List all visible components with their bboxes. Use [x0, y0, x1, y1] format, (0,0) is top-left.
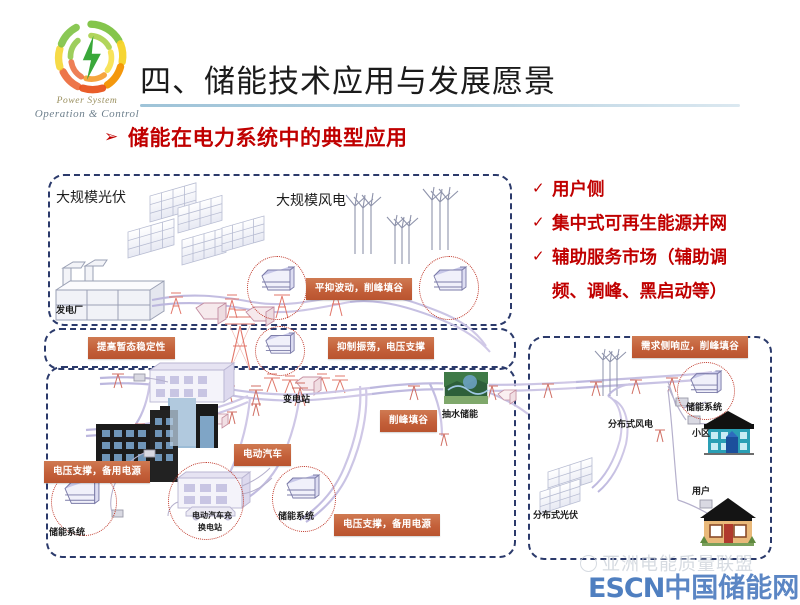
checklist-item-label: 集中式可再生能源并网 — [552, 212, 727, 237]
logo-text-line1: Power System — [26, 96, 148, 106]
label-voltage-backup-left: 电压支撑，备用电源 — [44, 461, 150, 483]
battery-stack-icon — [264, 332, 296, 362]
checklist-item-label: 辅助服务市场（辅助调 — [552, 246, 727, 271]
arrow-bullet-icon: ➢ — [104, 129, 121, 146]
power-system-logo: Power System Operation & Control — [26, 16, 148, 124]
check-icon: ✓ — [532, 246, 552, 266]
label-electric-vehicle: 电动汽车 — [234, 444, 291, 466]
checklist-item: ✓ 辅助服务市场（辅助调 — [532, 246, 794, 271]
battery-stack-icon — [284, 474, 322, 508]
label-user: 用户 — [692, 484, 710, 497]
watermark-escn-en: ESCN — [588, 573, 664, 604]
slide-root: Power System Operation & Control 四、储能技术应… — [0, 0, 800, 600]
label-peak-shaving-mid: 削峰填谷 — [380, 410, 437, 432]
label-large-scale-pv: 大规模光伏 — [56, 187, 126, 207]
checklist-item-label: 频、调峰、黑启动等） — [552, 280, 727, 305]
checklist-item: ✓ 用户侧 — [532, 178, 794, 203]
label-ess-center: 储能系统 — [278, 509, 314, 522]
label-community: 小区 — [692, 426, 710, 439]
page-title: 四、储能技术应用与发展愿景 — [140, 56, 556, 101]
watermark-escn-cn: 中国储能网 — [664, 573, 799, 604]
label-ess-left: 储能系统 — [49, 525, 85, 538]
label-distributed-pv: 分布式光伏 — [533, 508, 578, 521]
battery-stack-icon — [689, 370, 723, 402]
label-pumped-storage: 抽水储能 — [442, 407, 478, 420]
battery-stack-icon — [62, 478, 102, 514]
application-checklist: ✓ 用户侧 ✓ 集中式可再生能源并网 ✓ 辅助服务市场（辅助调 频、调峰、黑启动… — [532, 178, 794, 314]
label-ess-right: 储能系统 — [686, 400, 722, 413]
label-large-scale-wind: 大规模风电 — [276, 190, 346, 210]
battery-stack-icon — [432, 266, 468, 300]
checklist-item: ✓ 集中式可再生能源并网 — [532, 212, 794, 237]
page-subtitle: 储能在电力系统中的典型应用 — [128, 122, 408, 152]
label-power-plant: 发电厂 — [56, 303, 83, 316]
label-ev-charge-station-1: 电动汽车充 — [192, 510, 232, 521]
battery-stack-icon — [260, 266, 296, 300]
label-damping-voltage: 抑制振荡，电压支撑 — [328, 337, 434, 359]
checklist-item-label: 用户侧 — [552, 178, 605, 203]
label-demand-response: 需求侧响应，削峰填谷 — [632, 336, 748, 358]
logo-swirl-icon — [50, 16, 132, 98]
watermark-escn: ESCN中国储能网 — [588, 566, 799, 605]
subtitle-row: ➢ 储能在电力系统中的典型应用 — [104, 122, 408, 152]
logo-text-line2: Operation & Control — [26, 108, 148, 120]
title-divider — [140, 104, 740, 107]
check-icon: ✓ — [532, 178, 552, 198]
label-substation: 变电站 — [283, 392, 310, 405]
demand-side-panel — [528, 336, 772, 560]
label-ev-charge-station-2: 换电站 — [198, 522, 222, 533]
label-transient-stability: 提高暂态稳定性 — [88, 337, 175, 359]
label-voltage-backup-bottom: 电压支撑，备用电源 — [334, 514, 440, 536]
checklist-item-continuation: 频、调峰、黑启动等） — [532, 280, 794, 305]
label-distributed-wind: 分布式风电 — [608, 417, 653, 430]
check-icon: ✓ — [532, 212, 552, 232]
label-smooth-fluctuation: 平抑波动，削峰填谷 — [306, 278, 412, 300]
